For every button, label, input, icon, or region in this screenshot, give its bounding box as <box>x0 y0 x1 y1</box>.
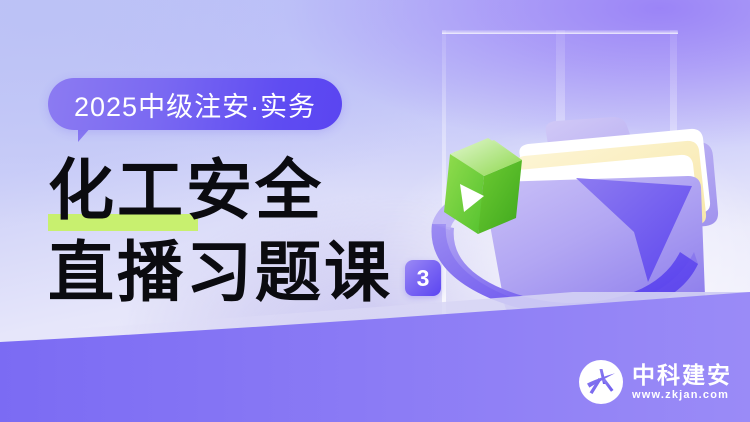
course-banner: 2025中级注安·实务 化工安全 直播习题课 3 <box>0 0 750 422</box>
headline-line-2: 直播习题课 3 <box>48 232 468 316</box>
episode-number-badge: 3 <box>405 260 441 296</box>
headline-text-2: 直播习题课 <box>48 236 393 312</box>
episode-number: 3 <box>417 267 430 290</box>
brand-name: 中科建安 <box>632 362 732 388</box>
headline-line-1: 化工安全 <box>48 152 468 230</box>
headline-block: 化工安全 直播习题课 3 <box>48 152 468 316</box>
course-category-label: 2025中级注安·实务 <box>74 85 316 124</box>
brand-url: www.zkjan.com <box>632 388 732 402</box>
brand-logo: 中科建安 www.zkjan.com <box>579 360 732 404</box>
zkjan-logo-icon <box>579 360 623 404</box>
course-category-badge: 2025中级注安·实务 <box>48 78 342 130</box>
headline-text-1: 化工安全 <box>48 154 324 230</box>
